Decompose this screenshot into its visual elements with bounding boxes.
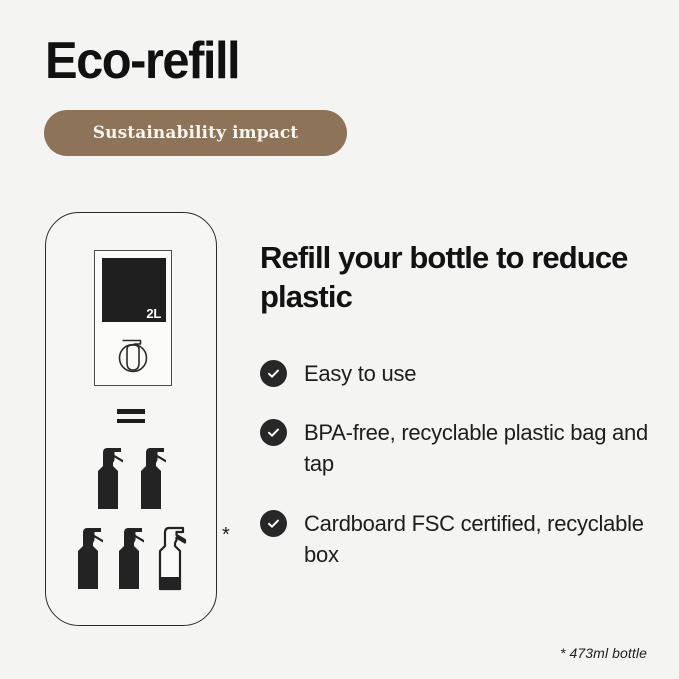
list-item: Cardboard FSC certified, recyclable box <box>260 508 660 570</box>
bottle-row-bottom <box>46 525 216 591</box>
check-circle-icon <box>260 360 287 387</box>
tap-icon <box>95 331 171 379</box>
pouch-icon: 2L <box>102 258 166 322</box>
refill-pouch-panel: 2L <box>94 250 172 386</box>
illustration-card: 2L <box>45 212 217 626</box>
list-item-label: Easy to use <box>304 358 416 389</box>
feature-list: Easy to use BPA-free, recyclable plastic… <box>260 358 660 598</box>
equals-sign <box>46 409 216 423</box>
status-badge-label: Sustainability impact <box>93 123 298 143</box>
headline: Refill your bottle to reduce plastic <box>260 238 660 317</box>
page-title: Eco-refill <box>45 34 239 89</box>
spray-bottle-filled <box>73 525 107 591</box>
list-item: Easy to use <box>260 358 660 389</box>
footnote-marker: * <box>222 525 230 545</box>
bottle-row-top <box>46 445 216 511</box>
eco-refill-infographic: Eco-refill Sustainability impact 2L <box>0 0 679 679</box>
spray-bottle-outline <box>155 525 189 591</box>
spray-bottle-filled <box>114 525 148 591</box>
footnote: * 473ml bottle <box>560 645 647 661</box>
spray-bottle-filled <box>93 445 127 511</box>
pouch-volume-label: 2L <box>146 307 161 320</box>
status-badge: Sustainability impact <box>44 110 347 156</box>
check-circle-icon <box>260 510 287 537</box>
spray-bottle-filled <box>136 445 170 511</box>
equals-bar-bottom <box>117 419 145 424</box>
equals-bar-top <box>117 409 145 414</box>
list-item: BPA-free, recyclable plastic bag and tap <box>260 417 660 479</box>
check-circle-icon <box>260 419 287 446</box>
list-item-label: Cardboard FSC certified, recyclable box <box>304 508 660 570</box>
list-item-label: BPA-free, recyclable plastic bag and tap <box>304 417 660 479</box>
